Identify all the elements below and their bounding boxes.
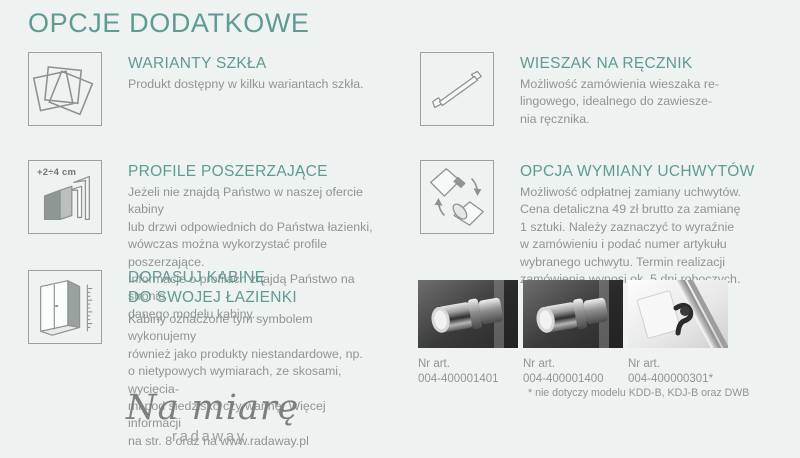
widening-profile-caption: +2÷4 cm <box>37 167 76 178</box>
towel-rail-icon <box>420 52 494 126</box>
feature-body: Produkt dostępny w kilku wariantach szkł… <box>128 76 364 93</box>
chrome-knob-handle-photo <box>523 280 623 348</box>
product-article-number: Nr art. 004-400001401 <box>418 357 518 387</box>
cabin-measure-icon <box>28 270 102 344</box>
feature-text: WIESZAK NA RĘCZNIK Możliwość zamówienia … <box>520 54 719 128</box>
handle-exchange-icon <box>420 160 494 234</box>
feature-body: Możliwość zamówienia wieszaka re- lingow… <box>520 76 719 128</box>
product-article-number: Nr art. 004-400000301* <box>628 357 728 387</box>
product-item: Nr art. 004-400001400 <box>523 280 623 387</box>
feature-text: WARIANTY SZKŁA Produkt dostępny w kilku … <box>128 54 364 93</box>
hook-handle-photo <box>628 280 728 348</box>
feature-text: OPCJA WYMIANY UCHWYTÓW Możliwość odpłatn… <box>520 162 755 288</box>
product-footnote: * nie dotyczy modelu KDD-B, KDJ-B oraz D… <box>528 387 749 399</box>
feature-title: OPCJA WYMIANY UCHWYTÓW <box>520 162 755 181</box>
product-article-number: Nr art. 004-400001400 <box>523 357 623 387</box>
feature-title: PROFILE POSZERZAJĄCE <box>128 162 373 181</box>
feature-title: DOPASUJ KABINĘ DO SWOJEJ ŁAZIENKI <box>128 268 373 308</box>
product-item: Nr art. 004-400000301* <box>628 280 728 387</box>
feature-title: WARIANTY SZKŁA <box>128 54 364 73</box>
chrome-knob-handle-photo <box>418 280 518 348</box>
feature-title: WIESZAK NA RĘCZNIK <box>520 54 719 73</box>
glass-panes-icon <box>28 52 102 126</box>
widening-profile-icon: +2÷4 cm <box>28 160 102 234</box>
page-root: OPCJE DODATKOWE WARIANTY SZKŁA Produkt d… <box>0 0 800 458</box>
page-title: OPCJE DODATKOWE <box>28 8 310 39</box>
brand-name-text: radaway <box>172 428 247 445</box>
brand-script-text: Na miarę <box>126 388 299 428</box>
product-item: Nr art. 004-400001401 <box>418 280 518 387</box>
brand-logo: Na miarę radaway <box>120 390 360 452</box>
feature-body: Możliwość odpłatnej zamiany uchwytów. Ce… <box>520 184 755 288</box>
